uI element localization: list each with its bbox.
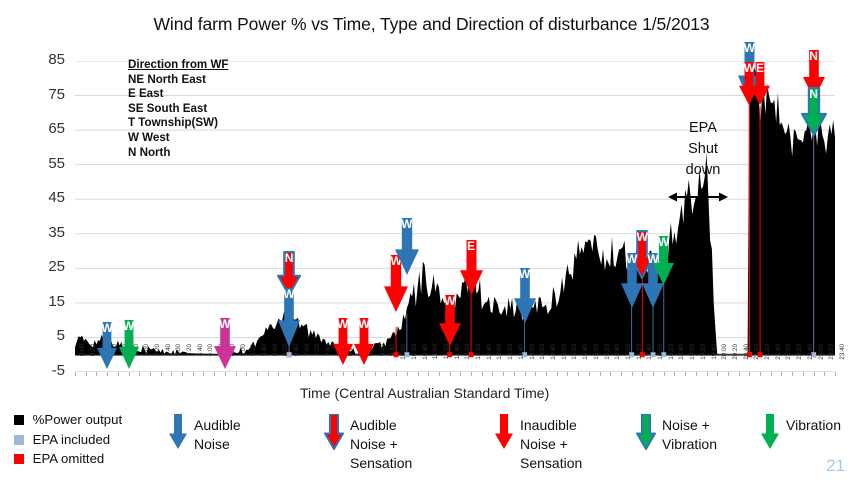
x-axis-tickmark	[300, 372, 301, 376]
x-axis-tickmark	[332, 372, 333, 376]
x-axis-tickmark	[257, 372, 258, 376]
page-number: 21	[826, 456, 845, 476]
x-axis-tickmark	[728, 372, 729, 376]
y-axis-tick-label: 65	[0, 120, 65, 137]
event-arrow-red-w[interactable]: W	[353, 318, 375, 366]
event-arrow-red-w[interactable]: W	[332, 318, 354, 366]
slide-root: Wind farm Power % vs Time, Type and Dire…	[0, 0, 863, 480]
x-axis-tickmark	[471, 372, 472, 376]
x-axis-tickmark	[503, 372, 504, 376]
x-axis-tickmark	[803, 372, 804, 376]
series-legend: %Power output EPA included EPA omitted	[14, 410, 122, 469]
direction-key-item: SE South East	[128, 102, 228, 117]
x-axis-tickmark	[268, 372, 269, 376]
event-arrow-green-w[interactable]: W	[118, 320, 140, 370]
x-axis-tickmark	[289, 372, 290, 376]
y-axis-tick-label: 25	[0, 258, 65, 275]
event-arrow-blue-w[interactable]: W	[394, 218, 420, 276]
legend-label: %Power output	[33, 412, 122, 427]
x-axis-tickmark	[214, 372, 215, 376]
x-axis-tickmark	[760, 372, 761, 376]
y-axis-tick-label: 75	[0, 86, 65, 103]
y-axis-tick-label: 55	[0, 155, 65, 172]
page-title: Wind farm Power % vs Time, Type and Dire…	[0, 14, 863, 35]
x-axis-tickmark	[193, 372, 194, 376]
x-axis-tickmark	[225, 372, 226, 376]
x-axis-tickmark	[546, 372, 547, 376]
event-arrow-blue-w[interactable]: W	[277, 288, 301, 348]
x-axis-tickmark	[343, 372, 344, 376]
direction-key: Direction from WF NE North East E East S…	[128, 58, 228, 160]
x-axis-tickmark	[96, 372, 97, 376]
x-axis-tickmark	[278, 372, 279, 376]
x-axis-tickmark	[139, 372, 140, 376]
x-axis-tickmark	[717, 372, 718, 376]
x-axis-tickmark	[236, 372, 237, 376]
x-axis-tickmark	[161, 372, 162, 376]
arrow-icon-audible-noise-sensation	[324, 414, 344, 450]
direction-key-heading: Direction from WF	[128, 58, 228, 73]
epa-shutdown-line: down	[672, 160, 734, 181]
y-axis-tick-label: 15	[0, 293, 65, 310]
x-axis-tickmark	[75, 372, 76, 376]
x-axis-tickmark	[610, 372, 611, 376]
epa-shutdown-annotation: EPA Shut down	[672, 118, 734, 181]
x-axis-tickmark	[567, 372, 568, 376]
arrow-icon-inaudible-noise-sensation	[494, 414, 514, 450]
x-axis-tickmark	[107, 372, 108, 376]
x-axis-tickmark	[514, 372, 515, 376]
event-arrow-red-e[interactable]: E	[459, 240, 484, 296]
x-axis-tickmark	[129, 372, 130, 376]
x-axis-tickmark	[460, 372, 461, 376]
x-axis-tickmark	[482, 372, 483, 376]
x-axis-tickmark	[428, 372, 429, 376]
y-axis-tick-label: 5	[0, 327, 65, 344]
x-axis-tickmark	[364, 372, 365, 376]
legend-item-epa-omitted: EPA omitted	[14, 449, 122, 469]
x-axis-tickmark	[771, 372, 772, 376]
x-axis-tickmark	[396, 372, 397, 376]
arrow-icon-audible-noise	[168, 414, 188, 450]
event-arrow-red-e[interactable]: E	[749, 62, 771, 106]
event-arrow-green-on-blue-n[interactable]: N	[801, 88, 827, 136]
swatch-epa-included	[14, 435, 24, 445]
x-axis-tickmark	[118, 372, 119, 376]
x-axis-tickmark	[664, 372, 665, 376]
x-axis-tickmark	[385, 372, 386, 376]
direction-key-item: T Township(SW)	[128, 116, 228, 131]
y-axis-tick-label: -5	[0, 362, 65, 379]
x-axis-tickmark	[749, 372, 750, 376]
x-axis-tickmark	[407, 372, 408, 376]
x-axis-tickmark	[600, 372, 601, 376]
legend-symbol-label: InaudibleNoise +Sensation	[520, 416, 582, 473]
direction-key-item: NE North East	[128, 73, 228, 88]
chart-legend: %Power output EPA included EPA omitted A…	[0, 408, 863, 480]
x-axis-tickmark	[439, 372, 440, 376]
x-axis-tickmark	[674, 372, 675, 376]
x-axis-tickmark	[535, 372, 536, 376]
event-arrow-magenta-w[interactable]: W	[213, 318, 237, 370]
x-axis-tickmark	[525, 372, 526, 376]
legend-label: EPA included	[33, 432, 110, 447]
legend-item-epa-included: EPA included	[14, 430, 122, 450]
x-axis-tickmark	[739, 372, 740, 376]
legend-symbol-label: AudibleNoise	[194, 416, 241, 454]
x-axis-tickmark	[685, 372, 686, 376]
swatch-power-output	[14, 415, 24, 425]
x-axis-tickmark	[150, 372, 151, 376]
x-axis-tickmark	[814, 372, 815, 376]
x-axis-tickmark	[792, 372, 793, 376]
x-axis-tickmark	[203, 372, 204, 376]
swatch-epa-omitted	[14, 454, 24, 464]
y-axis-tick-label: 35	[0, 224, 65, 241]
x-axis-tickmark	[642, 372, 643, 376]
arrow-icon-vibration	[760, 414, 780, 450]
x-axis-tickmark	[653, 372, 654, 376]
event-arrow-red-w[interactable]: W	[438, 295, 462, 347]
x-axis-tickmark	[86, 372, 87, 376]
epa-shutdown-line: Shut	[672, 139, 734, 160]
direction-key-item: W West	[128, 131, 228, 146]
event-arrow-blue-w[interactable]: W	[96, 322, 118, 370]
x-axis-tickmark	[492, 372, 493, 376]
x-axis-tickmark	[171, 372, 172, 376]
x-axis-tickmark	[246, 372, 247, 376]
y-axis-tick-label: 85	[0, 51, 65, 68]
direction-key-item: N North	[128, 146, 228, 161]
x-axis-tickmark	[621, 372, 622, 376]
x-axis-tickmark	[835, 372, 836, 376]
x-axis-tickmark	[353, 372, 354, 376]
arrow-icon-noise-vibration	[636, 414, 656, 450]
x-axis-tickmark	[321, 372, 322, 376]
event-arrow-blue-w[interactable]: W	[620, 253, 644, 309]
legend-symbol-label: AudibleNoise +Sensation	[350, 416, 412, 473]
epa-shutdown-line: EPA	[672, 118, 734, 139]
event-arrow-blue-w[interactable]: W	[513, 268, 537, 324]
epa-shutdown-span-arrow	[668, 190, 728, 202]
x-axis-tickmark	[589, 372, 590, 376]
x-axis-tickmark	[375, 372, 376, 376]
legend-symbol-label: Noise +Vibration	[662, 416, 717, 454]
x-axis-tickmark	[578, 372, 579, 376]
y-axis-tick-label: 45	[0, 189, 65, 206]
legend-symbol-label: Vibration	[786, 416, 841, 435]
direction-key-item: E East	[128, 87, 228, 102]
x-axis-tickmark	[418, 372, 419, 376]
x-axis-tickmark	[824, 372, 825, 376]
x-axis-tickmark	[696, 372, 697, 376]
legend-item-power-output: %Power output	[14, 410, 122, 430]
x-axis-tickmark	[781, 372, 782, 376]
x-axis-label: Time (Central Australian Standard Time)	[300, 385, 549, 401]
x-axis-tick-label: 23:40	[839, 344, 846, 376]
x-axis-tickmark	[182, 372, 183, 376]
legend-label: EPA omitted	[33, 451, 105, 466]
x-axis-tickmark	[310, 372, 311, 376]
x-axis-tickmark	[557, 372, 558, 376]
event-arrow-green-w[interactable]: W	[652, 236, 675, 286]
x-axis-tickmark	[632, 372, 633, 376]
x-axis-tickmark	[707, 372, 708, 376]
x-axis-tickmark	[450, 372, 451, 376]
